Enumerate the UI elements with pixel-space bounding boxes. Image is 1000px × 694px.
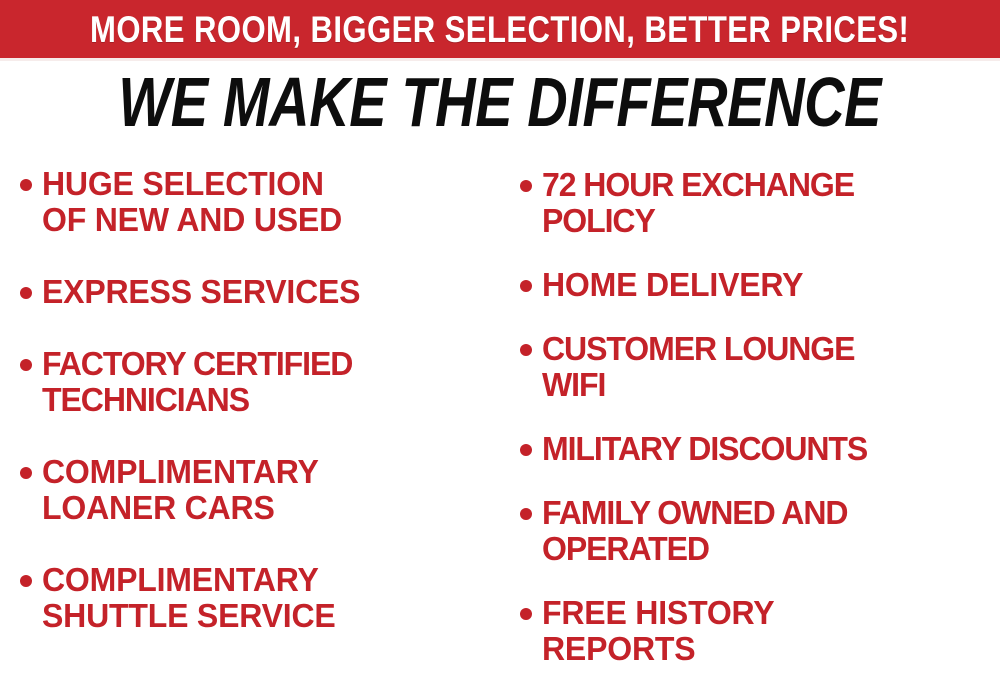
list-item-label: MILITARY DISCOUNTS <box>542 431 867 467</box>
bullet-dot-icon <box>520 508 532 520</box>
bullet-dot-icon <box>20 179 32 191</box>
list-item: 72 HOUR EXCHANGE POLICY <box>520 167 1000 239</box>
list-item-label: HUGE SELECTION OF NEW AND USED <box>42 166 342 238</box>
list-item: EXPRESS SERVICES <box>20 274 500 310</box>
bullet-dot-icon <box>520 444 532 456</box>
list-item-label: 72 HOUR EXCHANGE POLICY <box>542 167 854 239</box>
list-item-label: FREE HISTORY REPORTS <box>542 595 774 667</box>
list-item: FREE HISTORY REPORTS <box>520 595 1000 667</box>
banner-underline-divider <box>0 58 1000 61</box>
list-item: COMPLIMENTARY LOANER CARS <box>20 454 500 526</box>
bullet-dot-icon <box>520 608 532 620</box>
list-item: COMPLIMENTARY SHUTTLE SERVICE <box>20 562 500 634</box>
list-item-label: FACTORY CERTIFIED TECHNICIANS <box>42 346 352 418</box>
list-item: FAMILY OWNED AND OPERATED <box>520 495 1000 567</box>
list-item: HUGE SELECTION OF NEW AND USED <box>20 166 500 238</box>
bullet-dot-icon <box>520 344 532 356</box>
bullet-dot-icon <box>520 280 532 292</box>
promo-poster: MORE ROOM, BIGGER SELECTION, BETTER PRIC… <box>0 0 1000 694</box>
bullet-dot-icon <box>20 575 32 587</box>
benefits-column-left: HUGE SELECTION OF NEW AND USED EXPRESS S… <box>0 158 500 670</box>
list-item: FACTORY CERTIFIED TECHNICIANS <box>20 346 500 418</box>
list-item-label: COMPLIMENTARY SHUTTLE SERVICE <box>42 562 336 634</box>
list-item-label: COMPLIMENTARY LOANER CARS <box>42 454 319 526</box>
bullet-dot-icon <box>20 359 32 371</box>
benefits-column-right: 72 HOUR EXCHANGE POLICY HOME DELIVERY CU… <box>500 158 1000 694</box>
bullet-dot-icon <box>20 467 32 479</box>
list-item: CUSTOMER LOUNGE WIFI <box>520 331 1000 403</box>
list-item-label: EXPRESS SERVICES <box>42 274 360 310</box>
list-item: HOME DELIVERY <box>520 267 1000 303</box>
benefits-columns: HUGE SELECTION OF NEW AND USED EXPRESS S… <box>0 158 1000 694</box>
bullet-dot-icon <box>20 287 32 299</box>
headline-container: WE MAKE THE DIFFERENCE <box>0 64 1000 140</box>
list-item-label: FAMILY OWNED AND OPERATED <box>542 495 847 567</box>
list-item-label: CUSTOMER LOUNGE WIFI <box>542 331 854 403</box>
bullet-dot-icon <box>520 180 532 192</box>
list-item: MILITARY DISCOUNTS <box>520 431 1000 467</box>
list-item-label: HOME DELIVERY <box>542 267 803 303</box>
page-title: WE MAKE THE DIFFERENCE <box>119 67 882 137</box>
top-banner-text: MORE ROOM, BIGGER SELECTION, BETTER PRIC… <box>90 11 909 48</box>
top-banner: MORE ROOM, BIGGER SELECTION, BETTER PRIC… <box>0 0 1000 58</box>
